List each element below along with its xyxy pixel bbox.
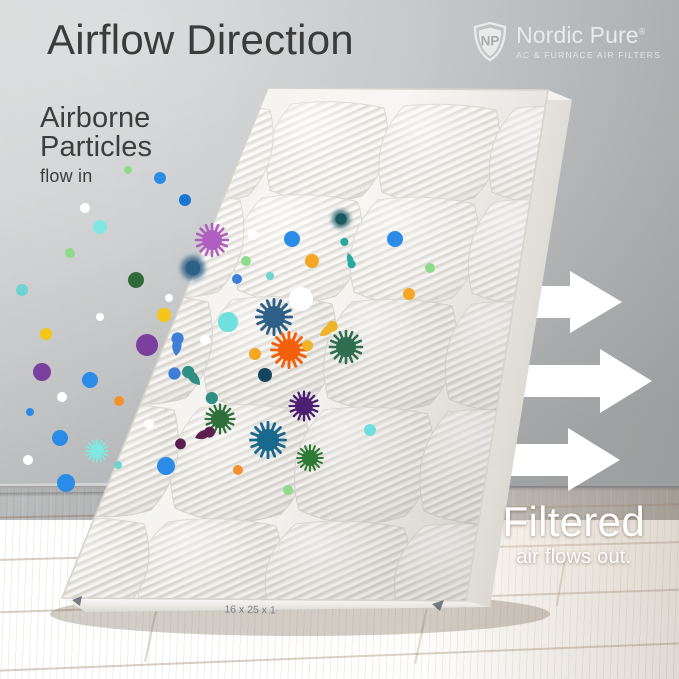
filter-size-marking: 16 x 25 x 1 bbox=[224, 604, 276, 617]
intake-label-line2: Particles bbox=[40, 133, 152, 162]
infographic-canvas: 16 x 25 x 1 Airflow Direction Airborne P… bbox=[0, 0, 679, 679]
brand-tagline: AC & FURNACE AIR FILTERS bbox=[516, 51, 661, 60]
brand-name-row: Nordic Pure® bbox=[516, 24, 661, 47]
intake-label: Airborne Particles flow in bbox=[40, 104, 152, 187]
shield-icon: NP bbox=[473, 22, 507, 62]
brand-name: Nordic Pure bbox=[516, 22, 639, 48]
brand-monogram: NP bbox=[481, 34, 500, 49]
intake-label-line1: Airborne bbox=[40, 104, 152, 133]
outflow-label: Filtered air flows out. bbox=[503, 500, 645, 569]
page-title: Airflow Direction bbox=[47, 16, 354, 64]
outflow-label-line1: Filtered bbox=[503, 500, 645, 544]
brand-wordmark: Nordic Pure® AC & FURNACE AIR FILTERS bbox=[516, 24, 661, 60]
intake-label-line3: flow in bbox=[40, 166, 152, 187]
outflow-label-line2: air flows out. bbox=[503, 546, 645, 569]
brand-logo: NP Nordic Pure® AC & FURNACE AIR FILTERS bbox=[473, 22, 661, 62]
registered-mark: ® bbox=[639, 27, 646, 37]
